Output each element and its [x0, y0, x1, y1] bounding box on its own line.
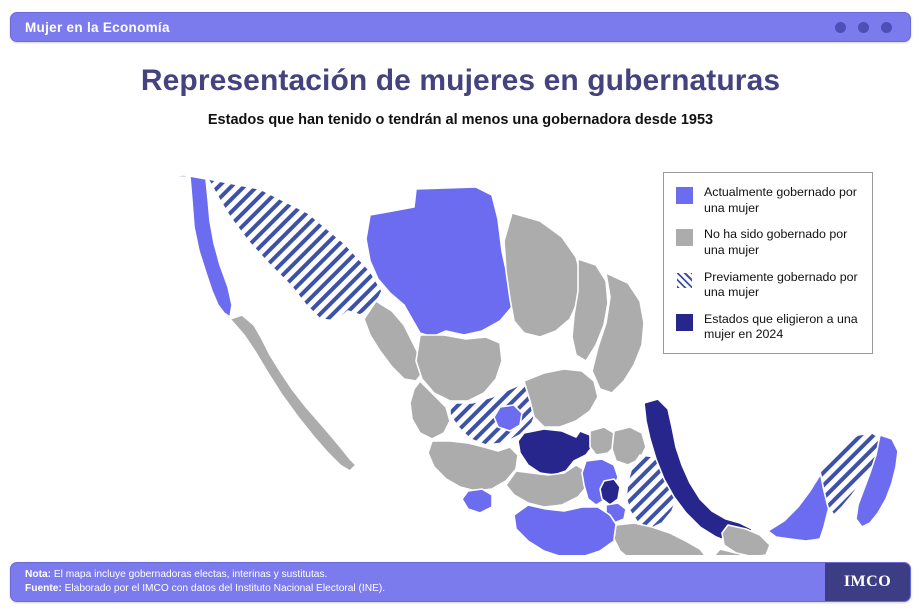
maximize-dot-icon[interactable]	[858, 22, 869, 33]
legend-swatch-current-icon	[676, 187, 693, 204]
footer-bar: Nota: El mapa incluye gobernadoras elect…	[10, 562, 911, 602]
legend-item-never: No ha sido gobernado por una mujer	[676, 227, 862, 258]
imco-logo-text: IMCO	[844, 573, 891, 591]
legend-swatch-previous-icon	[676, 272, 693, 289]
state-sonora	[208, 179, 382, 321]
legend-label-never: No ha sido gobernado por una mujer	[704, 227, 862, 258]
window-title: Mujer en la Economía	[25, 20, 170, 35]
footer-notes: Nota: El mapa incluye gobernadoras elect…	[25, 568, 385, 597]
state-san-luis-potosi	[524, 369, 598, 427]
state-jalisco	[428, 441, 518, 491]
legend-item-previous: Previamente gobernado por una mujer	[676, 270, 862, 301]
footer-note-text: El mapa incluye gobernadoras electas, in…	[51, 569, 327, 580]
minimize-dot-icon[interactable]	[835, 22, 846, 33]
footer-note-line: Nota: El mapa incluye gobernadoras elect…	[25, 568, 385, 582]
imco-logo: IMCO	[825, 563, 910, 601]
legend-swatch-elected2024-icon	[676, 314, 693, 331]
window-controls	[835, 22, 892, 33]
state-baja-california-sur	[230, 315, 356, 471]
state-aguascalientes	[494, 405, 522, 431]
page-subtitle: Estados que han tenido o tendrán al meno…	[0, 112, 921, 128]
footer-source-text: Elaborado por el IMCO con datos del Inst…	[62, 583, 385, 594]
window-titlebar: Mujer en la Economía	[10, 12, 911, 42]
map-legend: Actualmente gobernado por una mujer No h…	[663, 172, 873, 354]
legend-label-current: Actualmente gobernado por una mujer	[704, 185, 862, 216]
close-dot-icon[interactable]	[881, 22, 892, 33]
footer-source-label: Fuente:	[25, 583, 62, 594]
state-oaxaca	[614, 523, 708, 555]
footer-note-label: Nota:	[25, 569, 51, 580]
legend-swatch-never-icon	[676, 229, 693, 246]
page-title: Representación de mujeres en gubernatura…	[0, 64, 921, 98]
legend-label-previous: Previamente gobernado por una mujer	[704, 270, 862, 301]
slide-page: Mujer en la Economía Representación de m…	[0, 0, 921, 614]
legend-item-current: Actualmente gobernado por una mujer	[676, 185, 862, 216]
footer-source-line: Fuente: Elaborado por el IMCO con datos …	[25, 582, 385, 596]
state-guerrero	[514, 505, 618, 555]
state-coahuila	[504, 213, 582, 337]
legend-label-elected2024: Estados que eligieron a una mujer en 202…	[704, 312, 862, 343]
state-colima	[462, 489, 492, 513]
legend-item-elected2024: Estados que eligieron a una mujer en 202…	[676, 312, 862, 343]
